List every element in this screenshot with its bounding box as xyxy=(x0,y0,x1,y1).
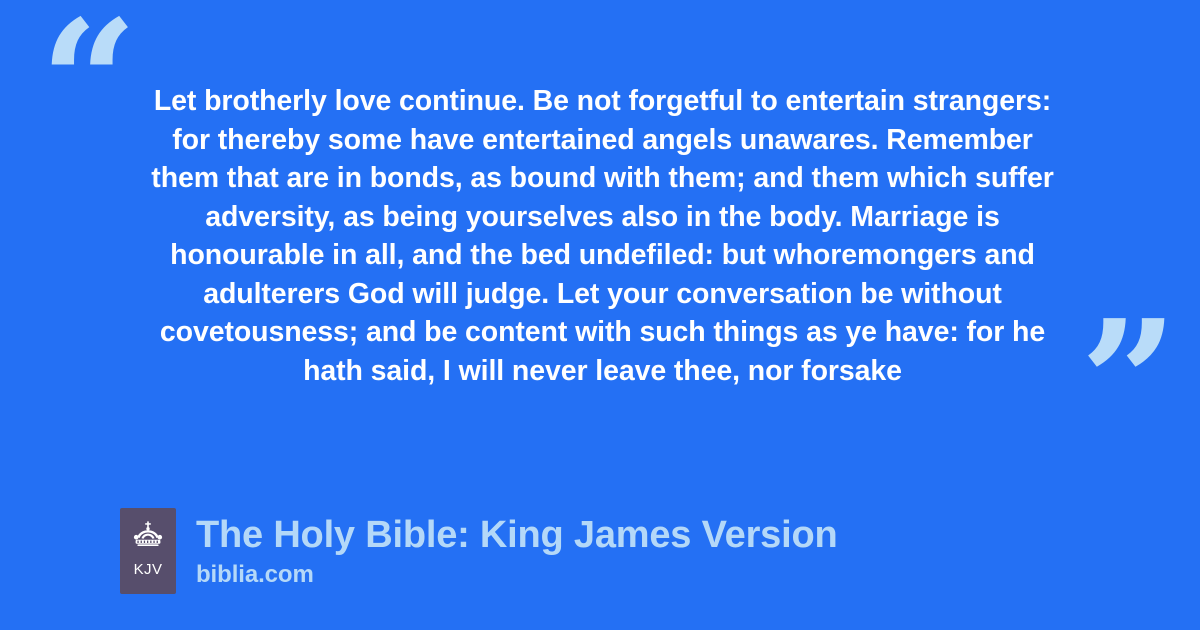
quote-line: covetousness; and be content with such t… xyxy=(110,313,1095,352)
brand-footer: KJV The Holy Bible: King James Version b… xyxy=(120,508,837,594)
quote-line: adversity, as being yourselves also in t… xyxy=(110,198,1095,237)
quote-card: “ Let brotherly love continue. Be not fo… xyxy=(0,0,1200,630)
crown-icon xyxy=(129,521,167,549)
quote-line: hath said, I will never leave thee, nor … xyxy=(110,352,1095,391)
quote-line: adulterers God will judge. Let your conv… xyxy=(110,275,1095,314)
quote-line: Let brotherly love continue. Be not forg… xyxy=(110,82,1095,121)
quote-line: them that are in bonds, as bound with th… xyxy=(110,159,1095,198)
closing-quote-icon: ” xyxy=(1080,298,1176,468)
quote-line: for thereby some have entertained angels… xyxy=(110,121,1095,160)
site-url[interactable]: biblia.com xyxy=(196,560,837,590)
logo-abbreviation-label: KJV xyxy=(134,561,163,578)
quote-text-block: Let brotherly love continue. Be not forg… xyxy=(110,82,1095,390)
bible-title: The Holy Bible: King James Version xyxy=(196,512,837,558)
brand-text-group: The Holy Bible: King James Version bibli… xyxy=(196,508,837,590)
quote-line: honourable in all, and the bed undefiled… xyxy=(110,236,1095,275)
kjv-logo-tile: KJV xyxy=(120,508,176,594)
